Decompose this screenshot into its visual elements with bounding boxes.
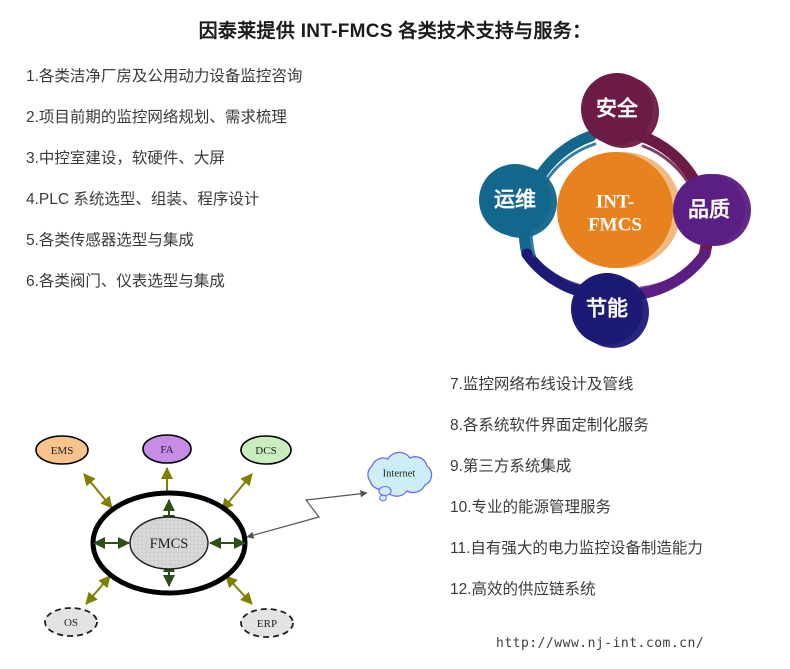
- center-label-line2: FMCS: [588, 215, 642, 236]
- list-item: 6.各类阀门、仪表选型与集成: [26, 273, 302, 290]
- node-label-ems: EMS: [51, 445, 74, 457]
- list-item: 2.项目前期的监控网络规划、需求梳理: [26, 109, 302, 126]
- list-item: 1.各类洁净厂房及公用动力设备监控咨询: [26, 68, 302, 85]
- arrow-ems: [84, 474, 112, 508]
- node-label-dcs: DCS: [255, 445, 276, 457]
- network-diagram-svg: FMCS EMS FA DCS OS ERP Internet: [14, 404, 434, 660]
- node-label-fa: FA: [160, 444, 173, 456]
- arrow-dcs: [222, 474, 252, 510]
- link-internet: [247, 493, 367, 537]
- fmcs-network-diagram: FMCS EMS FA DCS OS ERP Internet: [14, 404, 434, 660]
- bubble-label-energy: 节能: [586, 297, 628, 321]
- arrow-os: [86, 576, 110, 604]
- list-item: 11.自有强大的电力监控设备制造能力: [450, 540, 703, 557]
- internet-cloud-puff-small: [380, 495, 387, 501]
- arrow-erp: [226, 576, 252, 604]
- list-item: 9.第三方系统集成: [450, 458, 703, 475]
- list-item: 7.监控网络布线设计及管线: [450, 376, 703, 393]
- list-item: 5.各类传感器选型与集成: [26, 232, 302, 249]
- node-label-fmcs: FMCS: [150, 536, 189, 552]
- watermark-url: http://www.nj-int.com.cn/: [496, 636, 704, 651]
- service-list-right: 7.监控网络布线设计及管线 8.各系统软件界面定制化服务 9.第三方系统集成 1…: [450, 376, 703, 622]
- bubble-label-quality: 品质: [688, 199, 730, 222]
- list-item: 8.各系统软件界面定制化服务: [450, 417, 703, 434]
- center-label-line1: INT-: [596, 192, 634, 213]
- list-item: 4.PLC 系统选型、组装、程序设计: [26, 191, 302, 208]
- node-label-os: OS: [64, 617, 78, 629]
- bubble-label-security: 安全: [596, 97, 639, 121]
- service-list-left: 1.各类洁净厂房及公用动力设备监控咨询 2.项目前期的监控网络规划、需求梳理 3…: [26, 68, 302, 314]
- page-title: 因泰莱提供 INT-FMCS 各类技术支持与服务：: [0, 16, 790, 43]
- node-label-erp: ERP: [257, 618, 277, 630]
- bubble-label-operations: 运维: [494, 188, 536, 212]
- circle-diagram-svg: 安全 品质 节能 运维 INT- FMCS: [465, 62, 765, 358]
- node-internet[interactable]: Internet: [368, 452, 432, 500]
- list-item: 12.高效的供应链系统: [450, 581, 703, 598]
- node-label-internet: Internet: [383, 469, 416, 480]
- internet-cloud-puff-large: [379, 487, 391, 496]
- int-fmcs-circle-diagram: 安全 品质 节能 运维 INT- FMCS: [465, 62, 765, 358]
- list-item: 10.专业的能源管理服务: [450, 499, 703, 516]
- list-item: 3.中控室建设，软硬件、大屏: [26, 150, 302, 167]
